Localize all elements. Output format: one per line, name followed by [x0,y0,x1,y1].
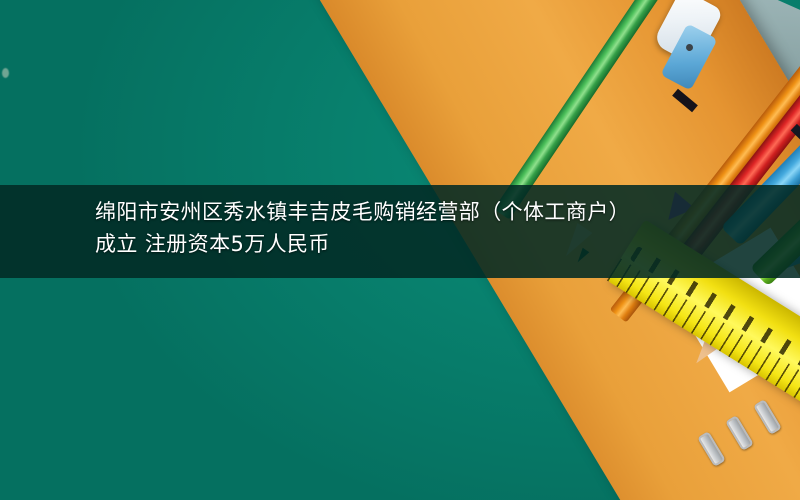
speck-mark [2,68,9,78]
caption-text: 绵阳市安州区秀水镇丰吉皮毛购销经营部（个体工商户） 成立 注册资本5万人民币 [95,196,755,260]
banner-image: 绵阳市安州区秀水镇丰吉皮毛购销经营部（个体工商户） 成立 注册资本5万人民币 [0,0,800,500]
